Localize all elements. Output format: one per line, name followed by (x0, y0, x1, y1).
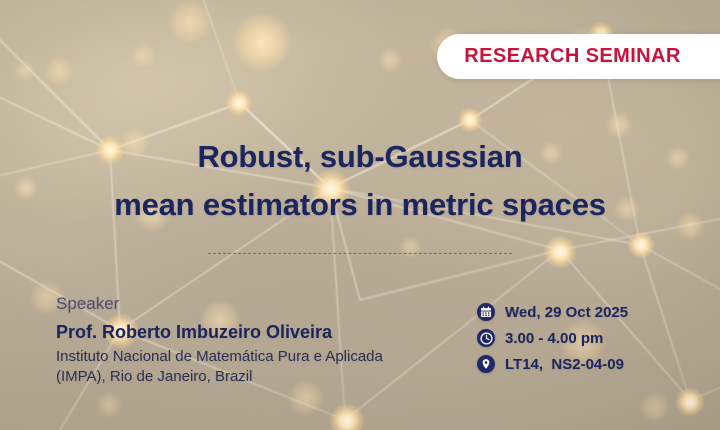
research-seminar-badge: RESEARCH SEMINAR (437, 34, 720, 79)
speaker-affiliation: Instituto Nacional de Matemática Pura e … (56, 347, 386, 387)
clock-icon (477, 329, 495, 347)
detail-row-location: LT14, NS2-04-09 (477, 352, 628, 376)
event-details-block: Wed, 29 Oct 2025 3.00 - 4.00 pm LT14, NS… (477, 300, 628, 378)
title-line-1: Robust, sub-Gaussian (0, 133, 720, 181)
detail-time-text: 3.00 - 4.00 pm (505, 330, 603, 347)
speaker-label: Speaker (56, 292, 446, 316)
dashed-divider (208, 253, 512, 254)
calendar-icon (477, 303, 495, 321)
location-pin-icon (477, 355, 495, 373)
speaker-block: Speaker Prof. Roberto Imbuzeiro Oliveira… (56, 292, 446, 387)
detail-row-time: 3.00 - 4.00 pm (477, 326, 628, 350)
page-title: Robust, sub-Gaussian mean estimators in … (0, 133, 720, 229)
detail-row-date: Wed, 29 Oct 2025 (477, 300, 628, 324)
detail-location-text: LT14, NS2-04-09 (505, 356, 624, 373)
seminar-poster: RESEARCH SEMINAR Robust, sub-Gaussian me… (0, 0, 720, 430)
badge-label: RESEARCH SEMINAR (464, 45, 680, 68)
speaker-name: Prof. Roberto Imbuzeiro Oliveira (56, 319, 446, 345)
title-line-2: mean estimators in metric spaces (0, 181, 720, 229)
detail-date-text: Wed, 29 Oct 2025 (505, 304, 628, 321)
